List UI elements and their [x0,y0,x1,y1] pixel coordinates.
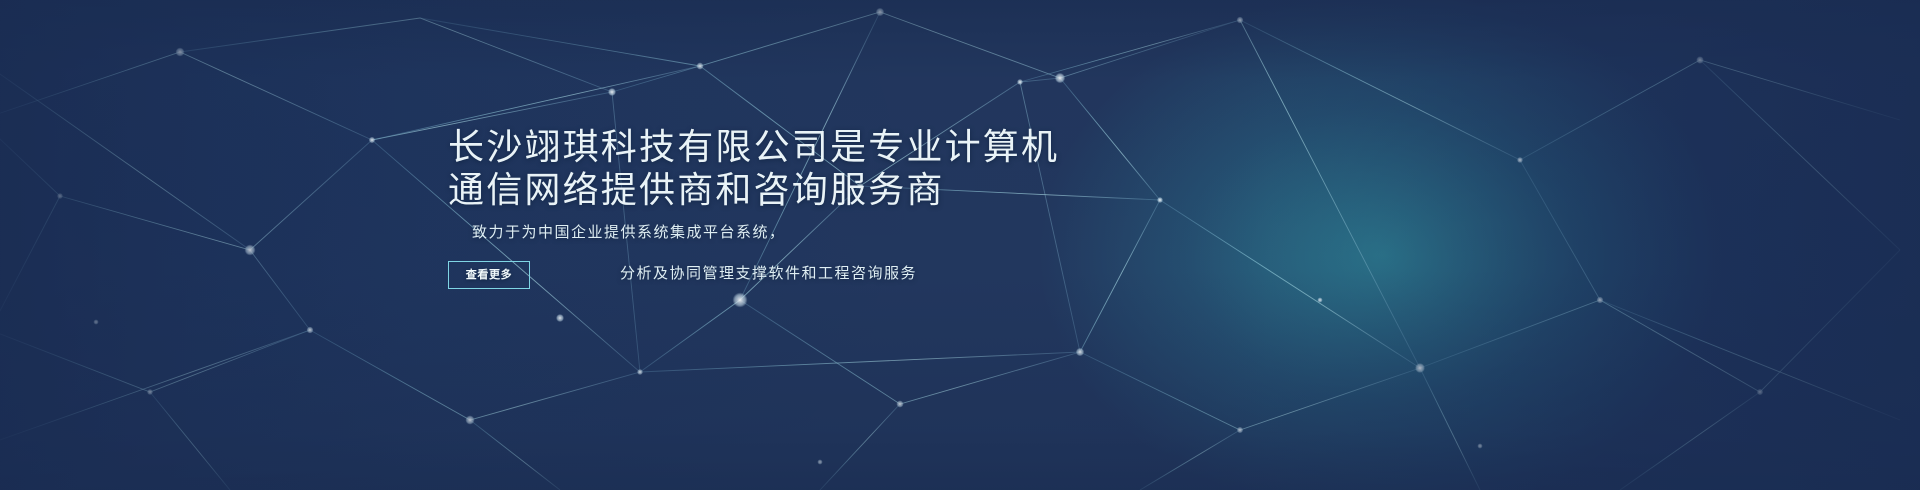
subtitle: 致力于为中国企业提供系统集成平台系统， 分析及协同管理支撑软件和工程咨询服务 [448,212,1428,294]
headline: 长沙翊琪科技有限公司是专业计算机 通信网络提供商和咨询服务商 [448,126,1348,212]
hero-copy-block: 长沙翊琪科技有限公司是专业计算机 通信网络提供商和咨询服务商 致力于为中国企业提… [0,0,1920,490]
view-more-button[interactable]: 查看更多 [448,261,530,289]
hero-banner: 长沙翊琪科技有限公司是专业计算机 通信网络提供商和咨询服务商 致力于为中国企业提… [0,0,1920,490]
headline-line-1: 长沙翊琪科技有限公司是专业计算机 [448,126,1348,169]
headline-line-2: 通信网络提供商和咨询服务商 [448,169,1348,212]
subtitle-line-1: 致力于为中国企业提供系统集成平台系统， [448,212,1428,253]
subtitle-line-2: 分析及协同管理支撑软件和工程咨询服务 [448,253,1428,294]
